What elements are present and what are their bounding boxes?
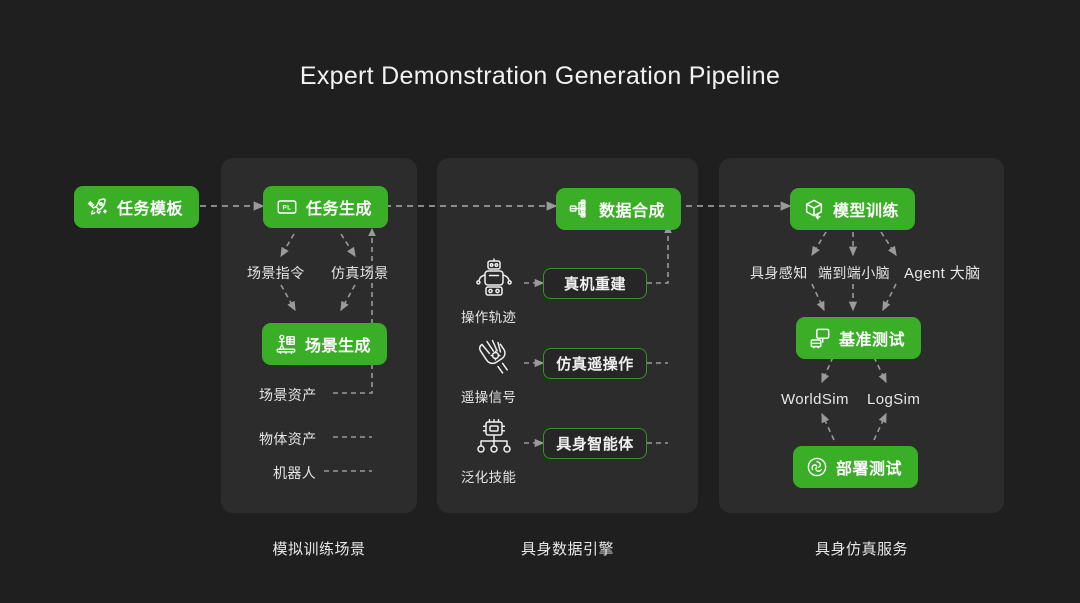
box-real-machine-reconstruction[interactable]: 真机重建 bbox=[543, 268, 647, 299]
robot-icon bbox=[471, 258, 517, 302]
node-benchmark-test[interactable]: 基准测试 bbox=[796, 317, 921, 359]
node-label: 基准测试 bbox=[839, 326, 905, 350]
monitor-icon bbox=[809, 327, 831, 349]
node-task-template[interactable]: 任务模板 bbox=[74, 186, 199, 228]
pl-label-icon: PL bbox=[276, 196, 298, 218]
node-label: 场景生成 bbox=[305, 332, 371, 356]
node-label: 部署测试 bbox=[836, 455, 902, 479]
node-label: 数据合成 bbox=[599, 197, 665, 221]
label-simulation-scene: 仿真场景 bbox=[331, 263, 389, 283]
pipeline-diagram: Expert Demonstration Generation Pipeline bbox=[0, 0, 1080, 603]
label-end-to-end-cerebellum: 端到端小脑 bbox=[818, 263, 890, 283]
label-robot: 机器人 bbox=[273, 463, 316, 483]
label-worldsim: WorldSim bbox=[781, 391, 849, 408]
node-label: 任务模板 bbox=[117, 195, 183, 219]
panel-caption-embodied-simulation-service: 具身仿真服务 bbox=[719, 538, 1004, 559]
caption-generalization-skill: 泛化技能 bbox=[461, 466, 516, 486]
cube-arrow-icon bbox=[803, 198, 825, 220]
rocket-icon bbox=[87, 196, 109, 218]
node-label: 任务生成 bbox=[306, 195, 372, 219]
spiral-circle-icon bbox=[806, 456, 828, 478]
caption-teleoperation-signal: 遥操信号 bbox=[461, 386, 516, 406]
box-simulated-teleoperation[interactable]: 仿真遥操作 bbox=[543, 348, 647, 379]
label-agent-brain: Agent 大脑 bbox=[904, 262, 981, 283]
caption-operation-trajectory: 操作轨迹 bbox=[461, 306, 516, 326]
panel-caption-embodied-data-engine: 具身数据引擎 bbox=[437, 538, 698, 559]
glove-icon bbox=[471, 338, 517, 382]
data-flow-icon bbox=[569, 198, 591, 220]
label-logsim: LogSim bbox=[867, 391, 920, 408]
node-data-synthesis[interactable]: 数据合成 bbox=[556, 188, 681, 230]
label-scene-instruction: 场景指令 bbox=[247, 263, 305, 283]
node-deployment-test[interactable]: 部署测试 bbox=[793, 446, 918, 488]
page-title: Expert Demonstration Generation Pipeline bbox=[0, 62, 1080, 91]
node-scene-generation[interactable]: 场景生成 bbox=[262, 323, 387, 365]
box-embodied-agent[interactable]: 具身智能体 bbox=[543, 428, 647, 459]
node-task-generation[interactable]: PL 任务生成 bbox=[263, 186, 388, 228]
chip-network-icon bbox=[471, 418, 517, 462]
panel-caption-simulation-training-scene: 模拟训练场景 bbox=[221, 538, 417, 559]
node-label: 模型训练 bbox=[833, 197, 899, 221]
node-model-training[interactable]: 模型训练 bbox=[790, 188, 915, 230]
label-object-asset: 物体资产 bbox=[259, 429, 317, 449]
svg-text:PL: PL bbox=[282, 204, 291, 211]
scene-build-icon bbox=[275, 333, 297, 355]
label-scene-asset: 场景资产 bbox=[259, 385, 317, 405]
label-embodied-perception: 具身感知 bbox=[750, 263, 808, 283]
